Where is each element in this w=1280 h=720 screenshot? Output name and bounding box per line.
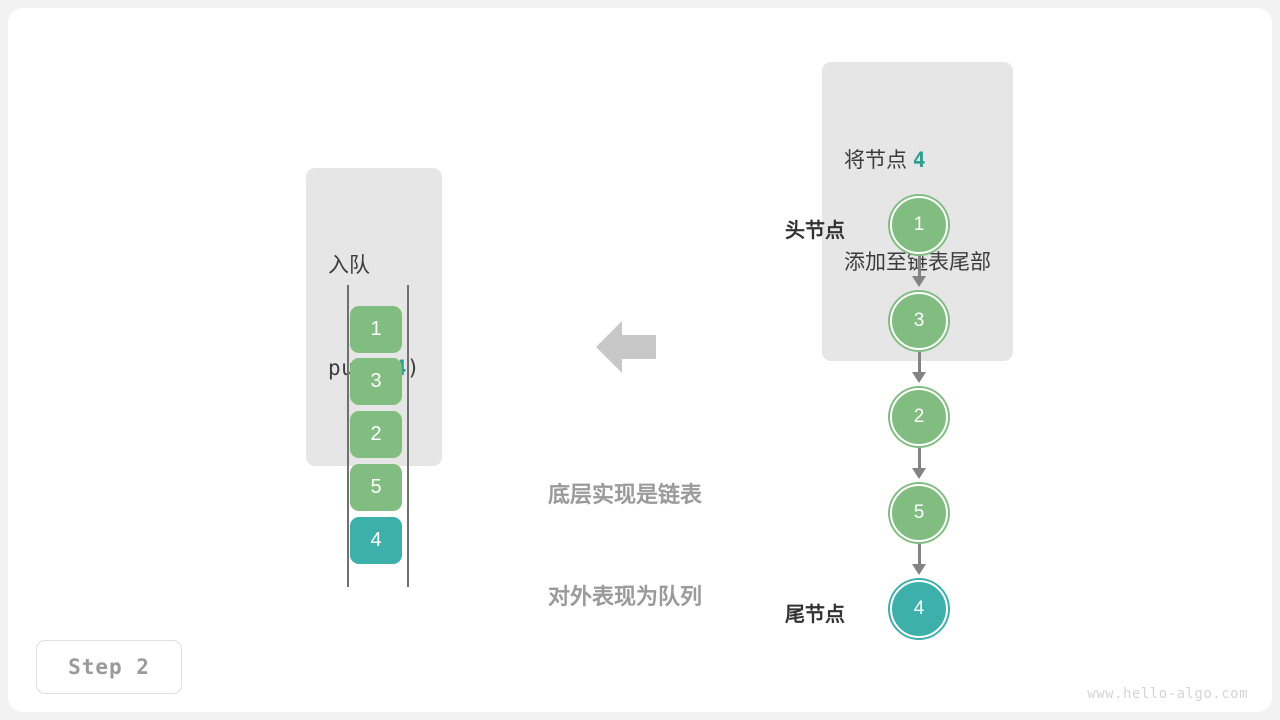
list-node: 2: [890, 388, 948, 446]
queue-cell-value: 4: [370, 529, 381, 552]
action-label-prefix: 将节点: [844, 149, 913, 172]
list-node-value: 5: [914, 502, 925, 524]
action-label-value: 4: [913, 148, 926, 172]
operation-label-line1: 入队: [328, 249, 420, 283]
link-arrowhead-icon: [912, 276, 926, 287]
queue-cell: 3: [350, 358, 402, 405]
tail-node-label: 尾节点: [785, 598, 845, 627]
queue-cell: 1: [350, 306, 402, 353]
center-caption-line2: 对外表现为队列: [505, 580, 745, 614]
link-connector: [918, 352, 921, 374]
list-node: 1: [890, 196, 948, 254]
center-caption: 底层实现是链表 对外表现为队列: [505, 410, 745, 682]
left-arrow-icon: [596, 321, 656, 373]
queue-cell-value: 5: [370, 476, 381, 499]
list-node-value: 1: [914, 214, 925, 236]
link-arrowhead-icon: [912, 564, 926, 575]
list-node: 5: [890, 484, 948, 542]
watermark: www.hello-algo.com: [1087, 686, 1248, 702]
step-badge: Step 2: [36, 640, 182, 694]
queue-cell: 2: [350, 411, 402, 458]
list-node: 3: [890, 292, 948, 350]
link-connector: [918, 448, 921, 470]
queue-cell-highlighted: 4: [350, 517, 402, 564]
queue-rail-left: [347, 285, 349, 587]
queue-cell-value: 3: [370, 370, 381, 393]
list-node-value: 4: [914, 598, 925, 620]
queue-rail-right: [407, 285, 409, 587]
head-node-label: 头节点: [785, 214, 845, 243]
link-connector: [918, 256, 921, 278]
list-node-value: 3: [914, 310, 925, 332]
queue-cell: 5: [350, 464, 402, 511]
queue-cell-value: 1: [370, 318, 381, 341]
list-node-highlighted: 4: [890, 580, 948, 638]
link-arrowhead-icon: [912, 468, 926, 479]
action-label-line1: 将节点 4: [844, 143, 991, 178]
queue-cell-value: 2: [370, 423, 381, 446]
link-arrowhead-icon: [912, 372, 926, 383]
list-node-value: 2: [914, 406, 925, 428]
link-connector: [918, 544, 921, 566]
center-caption-line1: 底层实现是链表: [505, 478, 745, 512]
figure-canvas: 入队 push(4) 将节点 4 添加至链表尾部 1 3 2 5 4 底层实现是…: [0, 0, 1280, 720]
